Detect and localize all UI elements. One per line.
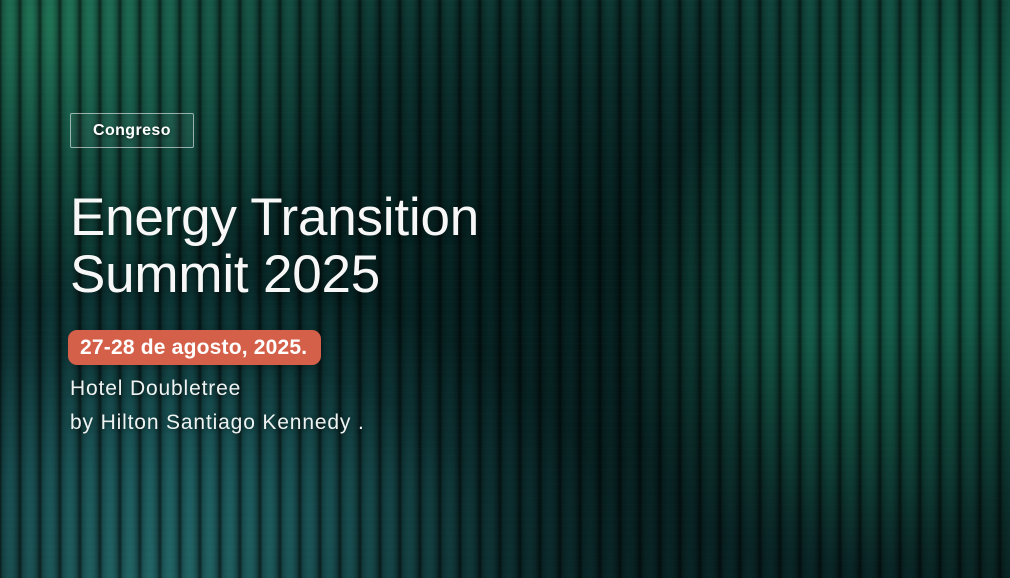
hero-content: Congreso Energy Transition Summit 2025 2… xyxy=(70,0,770,578)
event-venue-line-2: by Hilton Santiago Kennedy . xyxy=(70,406,365,440)
event-hero-banner: Congreso Energy Transition Summit 2025 2… xyxy=(0,0,1010,578)
page-title-line-1: Energy Transition xyxy=(70,190,479,247)
event-venue: Hotel Doubletree by Hilton Santiago Kenn… xyxy=(70,372,365,440)
page-title-line-2: Summit 2025 xyxy=(70,247,479,304)
event-type-badge: Congreso xyxy=(70,113,194,148)
page-title: Energy Transition Summit 2025 xyxy=(70,190,479,303)
event-venue-line-1: Hotel Doubletree xyxy=(70,372,365,406)
event-date-badge: 27-28 de agosto, 2025. xyxy=(68,330,321,365)
